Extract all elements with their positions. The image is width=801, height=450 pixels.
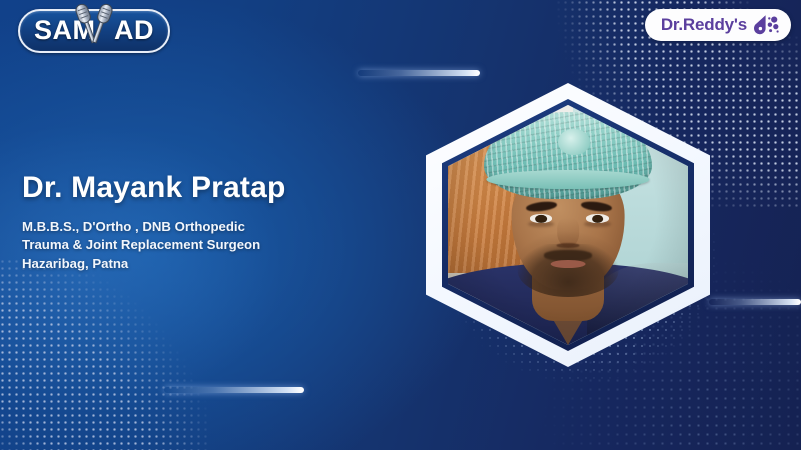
speaker-credentials: M.B.B.S., D'Ortho , DNB Orthopedic Traum… (22, 218, 352, 274)
dr-reddys-logo-text: Dr.Reddy's (661, 15, 747, 35)
credentials-line-2: Trauma & Joint Replacement Surgeon (22, 237, 260, 252)
speaker-card-slide: SAMVAD (0, 0, 801, 450)
light-streak-right (709, 299, 801, 305)
light-streak-lower-left (164, 387, 304, 393)
purple-leaf-bubbles-icon (753, 13, 780, 37)
samvad-logo[interactable]: SAMVAD (18, 9, 170, 53)
halftone-dots-bottom-left-icon (0, 258, 210, 450)
dr-reddys-logo[interactable]: Dr.Reddy's (645, 9, 791, 41)
credentials-line-3: Hazaribag, Patna (22, 256, 128, 271)
crossed-microphones-icon (66, 0, 122, 50)
credentials-line-1: M.B.B.S., D'Ortho , DNB Orthopedic (22, 219, 245, 234)
light-streak-upper (358, 70, 480, 76)
speaker-portrait-frame (426, 83, 710, 367)
speaker-info-block: Dr. Mayank Pratap M.B.B.S., D'Ortho , DN… (22, 172, 352, 274)
speaker-name: Dr. Mayank Pratap (22, 172, 352, 204)
